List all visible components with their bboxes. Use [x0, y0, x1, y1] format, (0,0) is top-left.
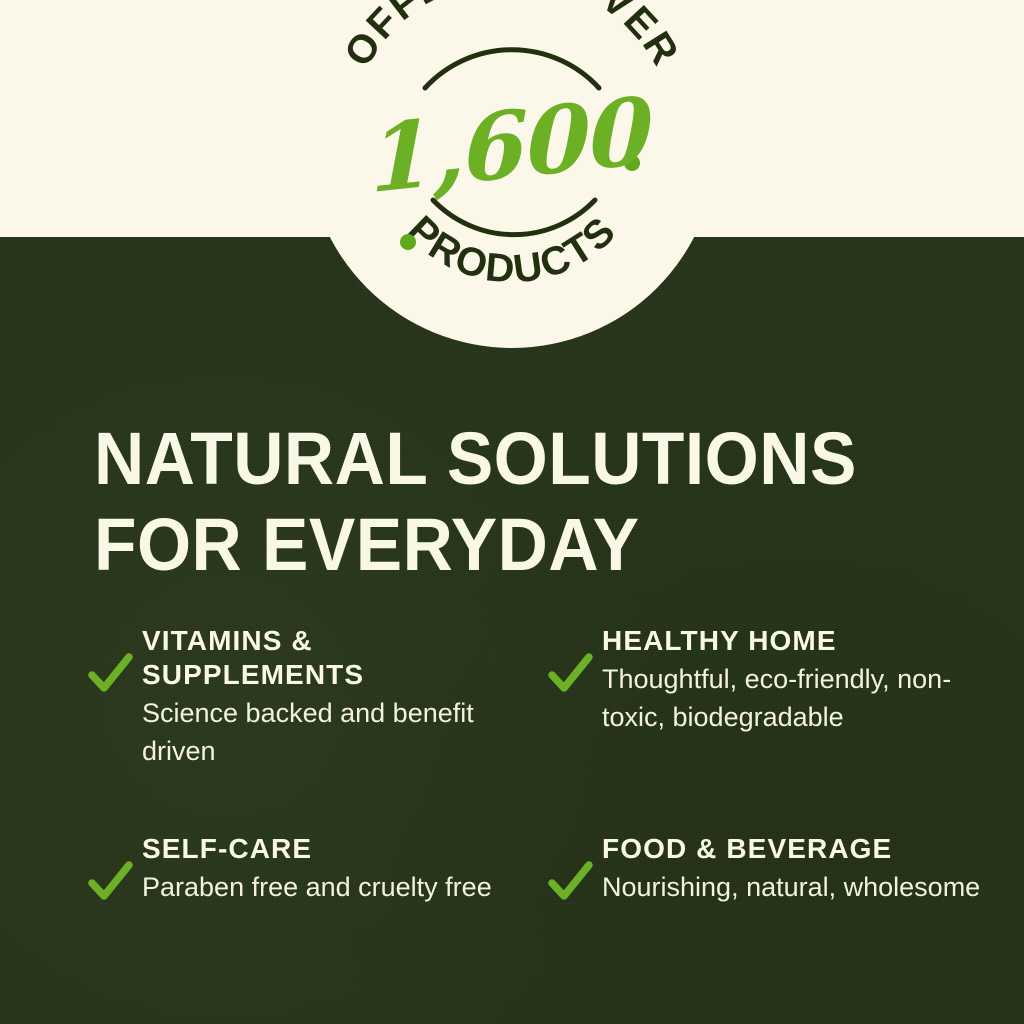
feature-title: FOOD & BEVERAGE: [602, 832, 980, 866]
feature-description: Thoughtful, eco-friendly, non-toxic, bio…: [602, 660, 986, 736]
feature-text: FOOD & BEVERAGE Nourishing, natural, who…: [602, 830, 980, 906]
feature-description: Paraben free and cruelty free: [142, 868, 492, 906]
feature-item-vitamins-supplements: VITAMINS & SUPPLEMENTS Science backed an…: [86, 622, 546, 830]
offering-over-badge: OFFERING OVER PRODUCTS 1,600: [307, 0, 717, 348]
feature-description: Science backed and benefit driven: [142, 694, 542, 770]
check-icon: [86, 858, 134, 906]
feature-text: HEALTHY HOME Thoughtful, eco-friendly, n…: [602, 622, 986, 736]
feature-title: HEALTHY HOME: [602, 624, 986, 658]
feature-description: Nourishing, natural, wholesome: [602, 868, 980, 906]
feature-item-self-care: SELF-CARE Paraben free and cruelty free: [86, 830, 546, 906]
badge-number-wrap: 1,600: [307, 0, 717, 348]
check-icon: [86, 650, 134, 698]
feature-grid: VITAMINS & SUPPLEMENTS Science backed an…: [86, 622, 986, 906]
feature-item-healthy-home: HEALTHY HOME Thoughtful, eco-friendly, n…: [546, 622, 986, 830]
headline-line-1: NATURAL SOLUTIONS: [94, 416, 921, 502]
feature-text: VITAMINS & SUPPLEMENTS Science backed an…: [142, 622, 542, 770]
feature-title: SELF-CARE: [142, 832, 492, 866]
promo-poster: OFFERING OVER PRODUCTS 1,600 NATURAL SOL…: [0, 0, 1024, 1024]
headline-line-2: FOR EVERYDAY: [94, 502, 921, 588]
page-title: NATURAL SOLUTIONS FOR EVERYDAY: [94, 416, 921, 588]
check-icon: [546, 650, 594, 698]
feature-item-food-beverage: FOOD & BEVERAGE Nourishing, natural, who…: [546, 830, 986, 906]
feature-title: VITAMINS & SUPPLEMENTS: [142, 624, 532, 692]
check-icon: [546, 858, 594, 906]
feature-text: SELF-CARE Paraben free and cruelty free: [142, 830, 492, 906]
badge-number: 1,600: [371, 76, 653, 214]
